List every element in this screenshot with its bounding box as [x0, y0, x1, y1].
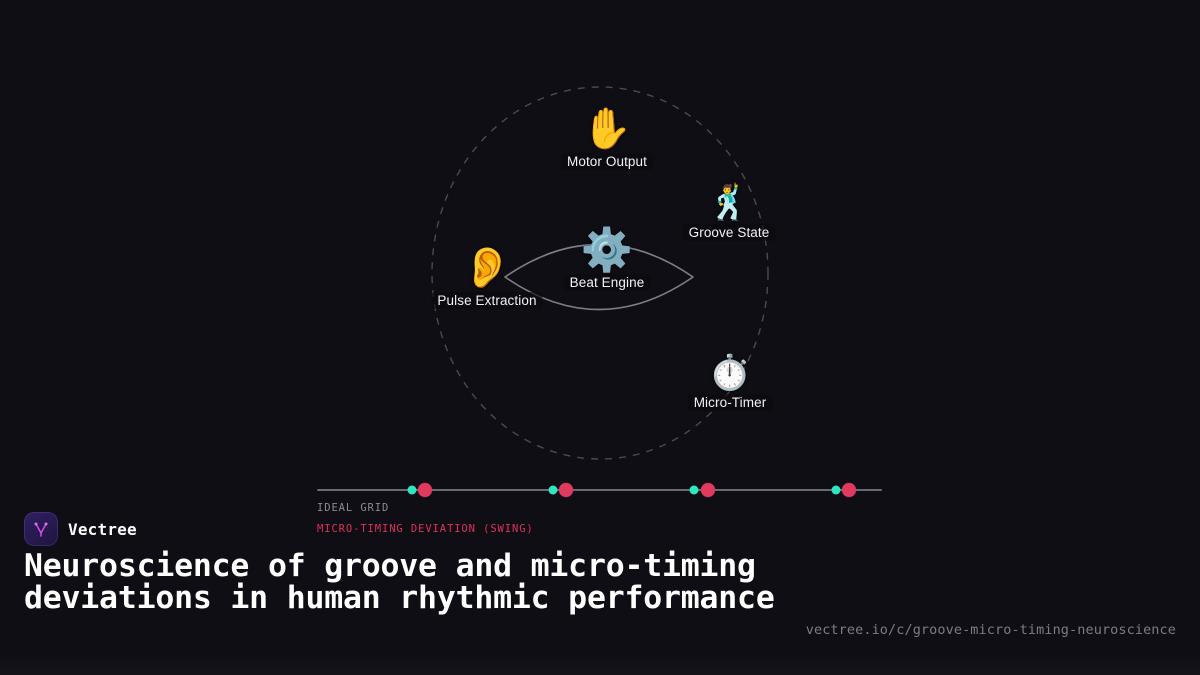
stopwatch-icon: ⏱️ [709, 353, 751, 393]
timing-timeline: IDEAL GRID MICRO-TIMING DEVIATION (SWING… [317, 470, 882, 540]
timeline-deviation-dot-4 [842, 483, 856, 497]
node-motor-output[interactable]: ✋ Motor Output [561, 106, 653, 170]
timeline-deviation-dot-2 [559, 483, 573, 497]
bottom-gradient-band [0, 653, 1200, 675]
node-label-groove-state: Groove State [683, 224, 776, 241]
concept-diagram: ✋ Motor Output 🕺 Groove State 👂 Pulse Ex… [0, 0, 1200, 480]
node-pulse-extraction[interactable]: 👂 Pulse Extraction [431, 245, 542, 309]
timeline-ideal-dot-2 [549, 485, 558, 494]
node-micro-timer[interactable]: ⏱️ Micro-Timer [688, 353, 773, 411]
vectree-logo-icon [24, 512, 58, 546]
timeline-ideal-dot-1 [408, 485, 417, 494]
ear-icon: 👂 [462, 245, 512, 291]
timeline-deviation-dot-1 [418, 483, 432, 497]
legend-ideal-grid: IDEAL GRID [317, 502, 534, 514]
brand-lockup[interactable]: Vectree [24, 512, 137, 546]
timeline-ideal-dot-3 [690, 485, 699, 494]
slide-canvas: ✋ Motor Output 🕺 Groove State 👂 Pulse Ex… [0, 0, 1200, 675]
man-dancing-icon: 🕺 [708, 183, 750, 223]
gear-icon: ⚙️ [581, 227, 633, 273]
raised-hand-icon: ✋ [582, 106, 632, 152]
timeline-ideal-dot-4 [832, 485, 841, 494]
node-label-motor-output: Motor Output [561, 153, 653, 170]
timeline-baseline [317, 489, 882, 491]
legend-micro-timing-deviation: MICRO-TIMING DEVIATION (SWING) [317, 523, 534, 535]
node-groove-state[interactable]: 🕺 Groove State [683, 183, 776, 241]
node-beat-engine[interactable]: ⚙️ Beat Engine [564, 227, 651, 291]
node-label-beat-engine: Beat Engine [564, 274, 651, 291]
timeline-legend: IDEAL GRID MICRO-TIMING DEVIATION (SWING… [317, 502, 534, 544]
page-title: Neuroscience of groove and micro-timing … [24, 550, 814, 614]
timeline-deviation-dot-3 [701, 483, 715, 497]
brand-name: Vectree [68, 520, 137, 539]
node-label-pulse-extraction: Pulse Extraction [431, 292, 542, 309]
source-url: vectree.io/c/groove-micro-timing-neurosc… [806, 622, 1176, 638]
node-label-micro-timer: Micro-Timer [688, 394, 773, 411]
